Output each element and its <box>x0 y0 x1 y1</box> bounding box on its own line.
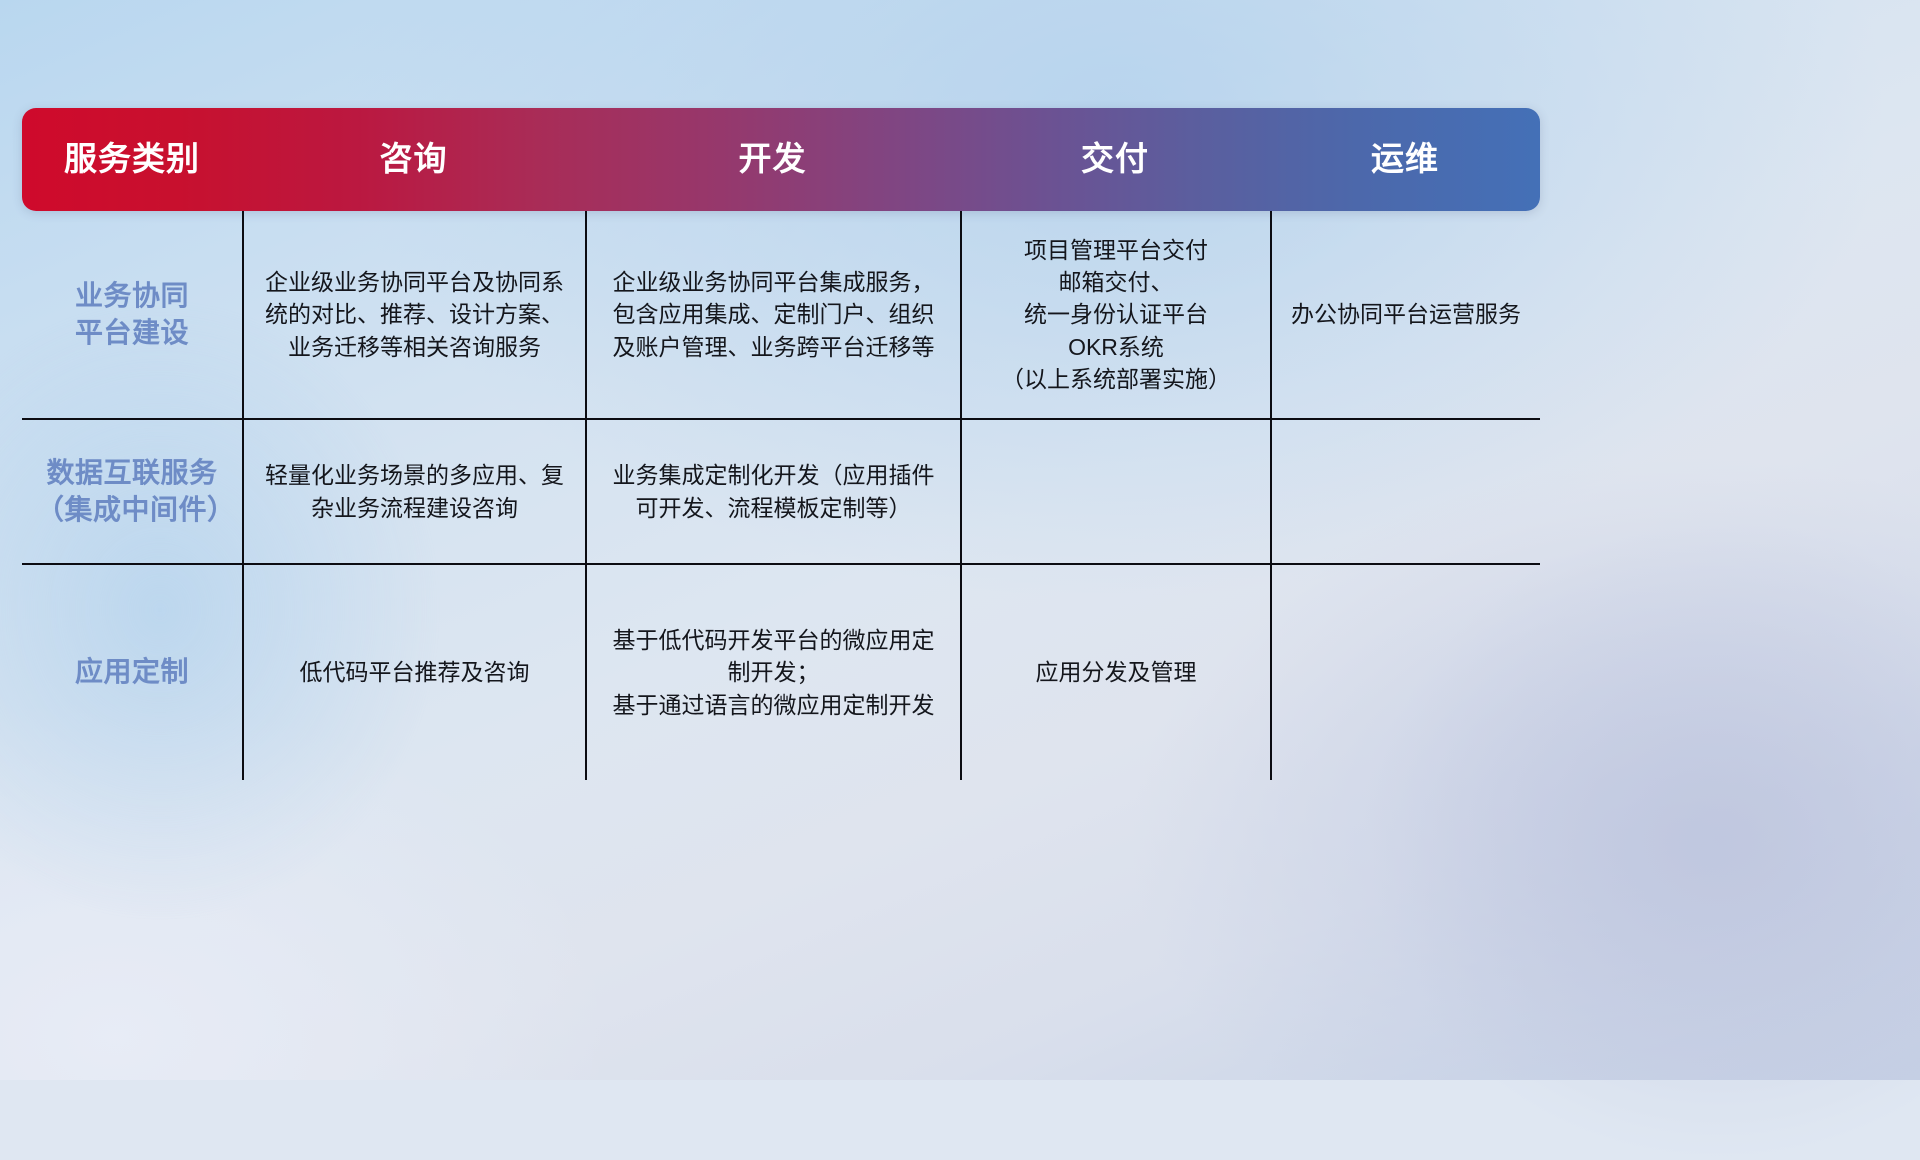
table-row: 数据互联服务 （集成中间件） 轻量化业务场景的多应用、复 杂业务流程建设咨询 业… <box>22 418 1540 563</box>
row-label-cell: 业务协同 平台建设 <box>22 211 242 418</box>
column-header-consulting: 咨询 <box>242 141 585 177</box>
column-header-delivery: 交付 <box>960 141 1270 177</box>
cell-text: 低代码平台推荐及咨询 <box>300 656 530 688</box>
row-label-text: 数据互联服务 （集成中间件） <box>36 455 228 529</box>
cell-text: 业务集成定制化开发（应用插件 可开发、流程模板定制等） <box>613 459 935 523</box>
cell-development: 企业级业务协同平台集成服务， 包含应用集成、定制门户、组织 及账户管理、业务跨平… <box>585 211 960 418</box>
cell-text: 办公协同平台运营服务 <box>1291 298 1521 330</box>
table-body: 业务协同 平台建设 企业级业务协同平台及协同系 统的对比、推荐、设计方案、 业务… <box>22 211 1540 780</box>
cell-development: 基于低代码开发平台的微应用定 制开发； 基于通过语言的微应用定制开发 <box>585 565 960 780</box>
cell-operations <box>1270 565 1540 780</box>
cell-text: 企业级业务协同平台及协同系 统的对比、推荐、设计方案、 业务迁移等相关咨询服务 <box>265 266 564 363</box>
cell-text: 项目管理平台交付 邮箱交付、 统一身份认证平台 OKR系统 （以上系统部署实施） <box>1001 234 1231 395</box>
column-header-development: 开发 <box>585 141 960 177</box>
cell-consulting: 轻量化业务场景的多应用、复 杂业务流程建设咨询 <box>242 420 585 563</box>
cell-operations <box>1270 420 1540 563</box>
cell-text: 企业级业务协同平台集成服务， 包含应用集成、定制门户、组织 及账户管理、业务跨平… <box>613 266 935 363</box>
table-header-row: 服务类别 咨询 开发 交付 运维 <box>22 108 1540 211</box>
cell-text: 应用分发及管理 <box>1036 656 1197 688</box>
cell-operations: 办公协同平台运营服务 <box>1270 211 1540 418</box>
row-label-text: 应用定制 <box>75 654 189 691</box>
cell-delivery: 应用分发及管理 <box>960 565 1270 780</box>
cell-text: 轻量化业务场景的多应用、复 杂业务流程建设咨询 <box>265 459 564 523</box>
column-header-service-category: 服务类别 <box>22 141 242 177</box>
cell-delivery <box>960 420 1270 563</box>
service-category-table: 服务类别 咨询 开发 交付 运维 业务协同 平台建设 企业级业务协同平台及协同系… <box>22 108 1540 780</box>
table-row: 应用定制 低代码平台推荐及咨询 基于低代码开发平台的微应用定 制开发； 基于通过… <box>22 563 1540 780</box>
cell-text: 基于低代码开发平台的微应用定 制开发； 基于通过语言的微应用定制开发 <box>613 624 935 721</box>
cell-delivery: 项目管理平台交付 邮箱交付、 统一身份认证平台 OKR系统 （以上系统部署实施） <box>960 211 1270 418</box>
row-label-cell: 应用定制 <box>22 565 242 780</box>
row-label-text: 业务协同 平台建设 <box>75 278 189 352</box>
cell-consulting: 企业级业务协同平台及协同系 统的对比、推荐、设计方案、 业务迁移等相关咨询服务 <box>242 211 585 418</box>
row-label-cell: 数据互联服务 （集成中间件） <box>22 420 242 563</box>
cell-development: 业务集成定制化开发（应用插件 可开发、流程模板定制等） <box>585 420 960 563</box>
cell-consulting: 低代码平台推荐及咨询 <box>242 565 585 780</box>
table-row: 业务协同 平台建设 企业级业务协同平台及协同系 统的对比、推荐、设计方案、 业务… <box>22 211 1540 418</box>
column-header-operations: 运维 <box>1270 141 1540 177</box>
